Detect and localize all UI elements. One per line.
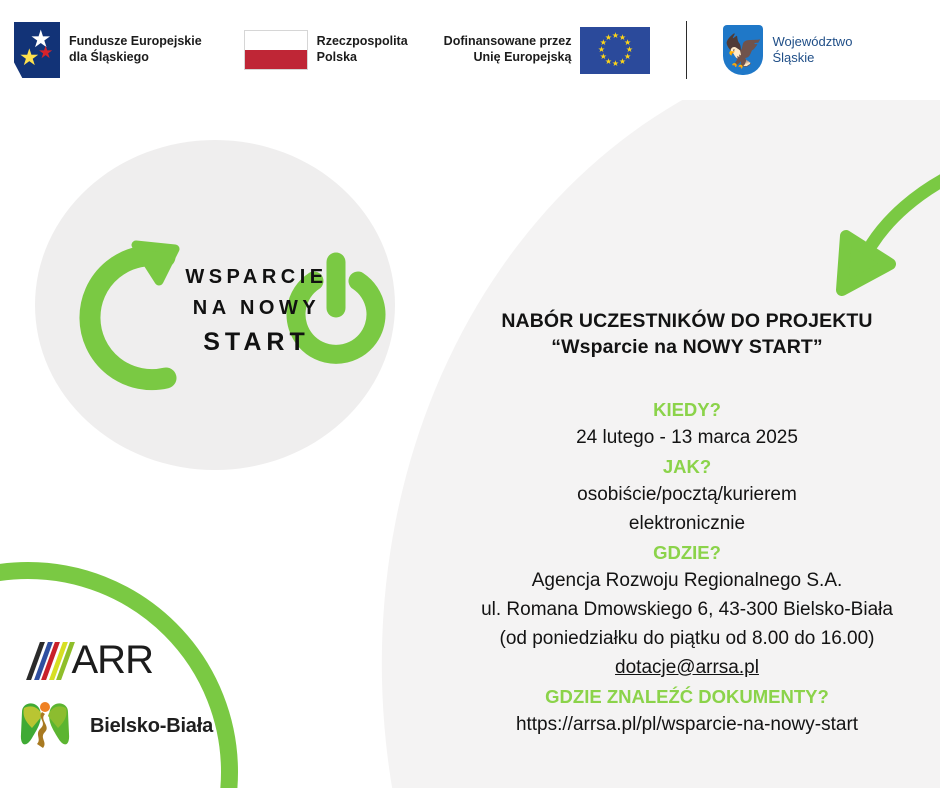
logo-poland: Rzeczpospolita Polska: [244, 30, 408, 70]
bielsko-biala-wordmark: Bielsko-Biała: [90, 715, 213, 738]
logo-eu-cofinancing-caption: Dofinansowane przez Unię Europejską: [444, 34, 572, 65]
info-block-gdzie: GDZIE? Agencja Rozwoju Regionalnego S.A.…: [452, 539, 922, 683]
header-divider: [686, 21, 687, 79]
logo-poland-caption: Rzeczpospolita Polska: [317, 34, 408, 65]
arr-wordmark: ARR: [72, 641, 153, 679]
arr-slashes-icon: [33, 640, 71, 680]
poland-flag-white-band: [245, 31, 307, 50]
brand-line-2: NA NOWY: [174, 293, 339, 324]
curved-arrow-down-left-icon: [818, 158, 940, 313]
star-yellow-icon: ★: [19, 46, 40, 69]
brand-wordmark: WSPARCIE NA NOWY START: [174, 262, 339, 360]
main-content: NABÓR UCZESTNIKÓW DO PROJEKTU “Wsparcie …: [452, 308, 922, 740]
logo-eu-funds: ★ ★ ★ Fundusze Europejskie dla Śląskiego: [14, 22, 202, 78]
answer-text: Agencja Rozwoju Regionalnego S.A.: [452, 567, 922, 596]
brand-logo: WSPARCIE NA NOWY START: [62, 224, 392, 399]
eu-flag-icon: ★★★★★★★★★★★★: [580, 27, 650, 74]
answer-text: 24 lutego - 13 marca 2025: [452, 424, 922, 453]
info-block-dokumenty: GDZIE ZNALEŹĆ DOKUMENTY? https://arrsa.p…: [452, 683, 922, 740]
eu-star-icon: ★: [599, 53, 607, 61]
eagle-icon: 🦅: [724, 35, 764, 67]
bielsko-biala-emblem-svg: [18, 698, 72, 754]
email-link[interactable]: dotacje@arrsa.pl: [452, 654, 922, 683]
page-title-line-1: NABÓR UCZESTNIKÓW DO PROJEKTU: [452, 308, 922, 334]
info-block-kiedy: KIEDY? 24 lutego - 13 marca 2025: [452, 396, 922, 453]
curved-arrow-svg: [818, 158, 940, 308]
eu-funds-flag-icon: ★ ★ ★: [14, 22, 60, 78]
question-label: KIEDY?: [452, 396, 922, 424]
question-label: GDZIE?: [452, 539, 922, 567]
question-label: GDZIE ZNALEŹĆ DOKUMENTY?: [452, 683, 922, 711]
question-label: JAK?: [452, 453, 922, 481]
bielsko-biala-logo: Bielsko-Biała: [18, 698, 213, 754]
header-logo-strip: ★ ★ ★ Fundusze Europejskie dla Śląskiego…: [0, 0, 940, 100]
poland-flag-red-band: [245, 50, 307, 69]
page-title: NABÓR UCZESTNIKÓW DO PROJEKTU “Wsparcie …: [452, 308, 922, 360]
star-red-icon: ★: [38, 44, 53, 61]
info-block-jak: JAK? osobiście/pocztą/kurierem elektroni…: [452, 453, 922, 539]
silesia-shield-icon: 🦅: [723, 25, 763, 75]
eu-star-icon: ★: [604, 34, 612, 42]
brand-line-1: WSPARCIE: [174, 262, 339, 293]
answer-text: (od poniedziałku do piątku od 8.00 do 16…: [452, 625, 922, 654]
website-url[interactable]: https://arrsa.pl/pl/wsparcie-na-nowy-sta…: [452, 711, 922, 740]
logo-eu-funds-caption: Fundusze Europejskie dla Śląskiego: [69, 34, 202, 65]
logo-silesia: 🦅 Województwo Śląskie: [723, 25, 852, 75]
eu-star-icon: ★: [611, 60, 619, 68]
bielsko-biala-emblem-icon: [18, 698, 72, 754]
poland-flag-icon: [244, 30, 308, 70]
logo-silesia-caption: Województwo Śląskie: [772, 34, 852, 67]
page-title-line-2: “Wsparcie na NOWY START”: [452, 334, 922, 360]
answer-text: osobiście/pocztą/kurierem: [452, 481, 922, 510]
answer-text: elektronicznie: [452, 510, 922, 539]
eu-star-icon: ★: [618, 58, 626, 66]
eu-star-icon: ★: [597, 46, 605, 54]
brand-line-3: START: [174, 324, 339, 360]
answer-text: ul. Romana Dmowskiego 6, 43-300 Bielsko-…: [452, 596, 922, 625]
circular-arrow-icon: [90, 245, 175, 380]
logo-eu-cofinancing: Dofinansowane przez Unię Europejską ★★★★…: [444, 27, 651, 74]
arr-logo: ARR: [33, 640, 153, 680]
poster-canvas: ★ ★ ★ Fundusze Europejskie dla Śląskiego…: [0, 0, 940, 788]
